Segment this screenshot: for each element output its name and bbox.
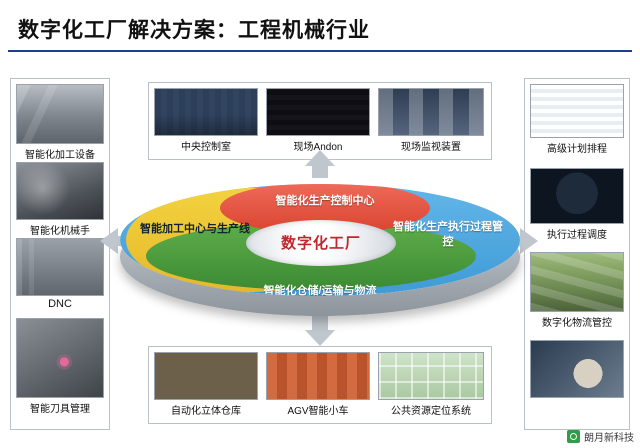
top-item-2-label: 现场监视装置 [364, 138, 498, 153]
disc-surface: 数字化工厂 智能化生产控制中心 智能加工中心与生产线 智能化生产执行过程管控 智… [120, 184, 520, 296]
segment-yellow-label: 智能加工中心与生产线 [140, 222, 250, 237]
factory-photo-icon [16, 84, 104, 144]
control-room-photo-icon [154, 88, 258, 136]
execution-dispatch-photo-icon [530, 168, 624, 224]
top-item-0[interactable]: 中央控制室 [154, 88, 258, 136]
segment-green-label: 智能化仓储/运输与物流 [190, 284, 450, 296]
right-item-2[interactable]: 数字化物流管控 [530, 252, 624, 312]
watermark: 朗月新科技 [567, 429, 634, 444]
left-item-3-label: 智能刀具管理 [2, 400, 118, 415]
center-diagram: 数字化工厂 智能化生产控制中心 智能加工中心与生产线 智能化生产执行过程管控 智… [120, 170, 520, 310]
arrow-up-icon [305, 150, 335, 166]
bottom-item-0[interactable]: 自动化立体仓库 [154, 352, 258, 400]
page-title: 数字化工厂解决方案：工程机械行业 [18, 14, 370, 44]
automated-warehouse-photo-icon [154, 352, 258, 400]
left-item-0-label: 智能化加工设备 [2, 146, 118, 161]
right-item-2-label: 数字化物流管控 [516, 314, 638, 329]
monitoring-device-photo-icon [378, 88, 484, 136]
left-item-2-label: DNC [2, 298, 118, 310]
bottom-item-2-label: 公共资源定位系统 [364, 402, 498, 417]
core-label: 数字化工厂 [246, 232, 396, 253]
arrow-down-icon [305, 330, 335, 346]
planning-schedule-photo-icon [530, 84, 624, 138]
brand-logo-icon [567, 430, 580, 443]
top-item-2[interactable]: 现场监视装置 [378, 88, 484, 136]
tablet-terminal-photo-icon [530, 340, 624, 398]
bottom-item-1[interactable]: AGV智能小车 [266, 352, 370, 400]
right-item-0[interactable]: 高级计划排程 [530, 84, 624, 138]
left-item-1[interactable]: 智能化机械手 [16, 162, 104, 220]
right-item-0-label: 高级计划排程 [516, 140, 638, 155]
tool-management-photo-icon [16, 318, 104, 398]
right-item-3[interactable] [530, 340, 624, 398]
top-item-1[interactable]: 现场Andon [266, 88, 370, 136]
segment-blue-label: 智能化生产执行过程管控 [388, 220, 508, 250]
agv-cart-photo-icon [266, 352, 370, 400]
right-item-1[interactable]: 执行过程调度 [530, 168, 624, 224]
core-ellipse[interactable]: 数字化工厂 [246, 220, 396, 266]
arrow-right-icon [520, 228, 538, 254]
digital-logistics-photo-icon [530, 252, 624, 312]
watermark-text: 朗月新科技 [584, 429, 634, 444]
robot-arm-photo-icon [16, 162, 104, 220]
slide-canvas: 数字化工厂解决方案：工程机械行业 智能化加工设备 智能化机械手 DNC 智能刀具… [0, 0, 640, 448]
bottom-item-2[interactable]: 公共资源定位系统 [378, 352, 484, 400]
dnc-photo-icon [16, 238, 104, 296]
resource-locating-photo-icon [378, 352, 484, 400]
left-item-2[interactable]: DNC [16, 238, 104, 296]
segment-red-label: 智能化生产控制中心 [230, 194, 420, 209]
arrow-left-icon [100, 228, 118, 254]
left-item-0[interactable]: 智能化加工设备 [16, 84, 104, 144]
title-bar: 数字化工厂解决方案：工程机械行业 [8, 10, 632, 52]
left-item-3[interactable]: 智能刀具管理 [16, 318, 104, 398]
andon-board-photo-icon [266, 88, 370, 136]
